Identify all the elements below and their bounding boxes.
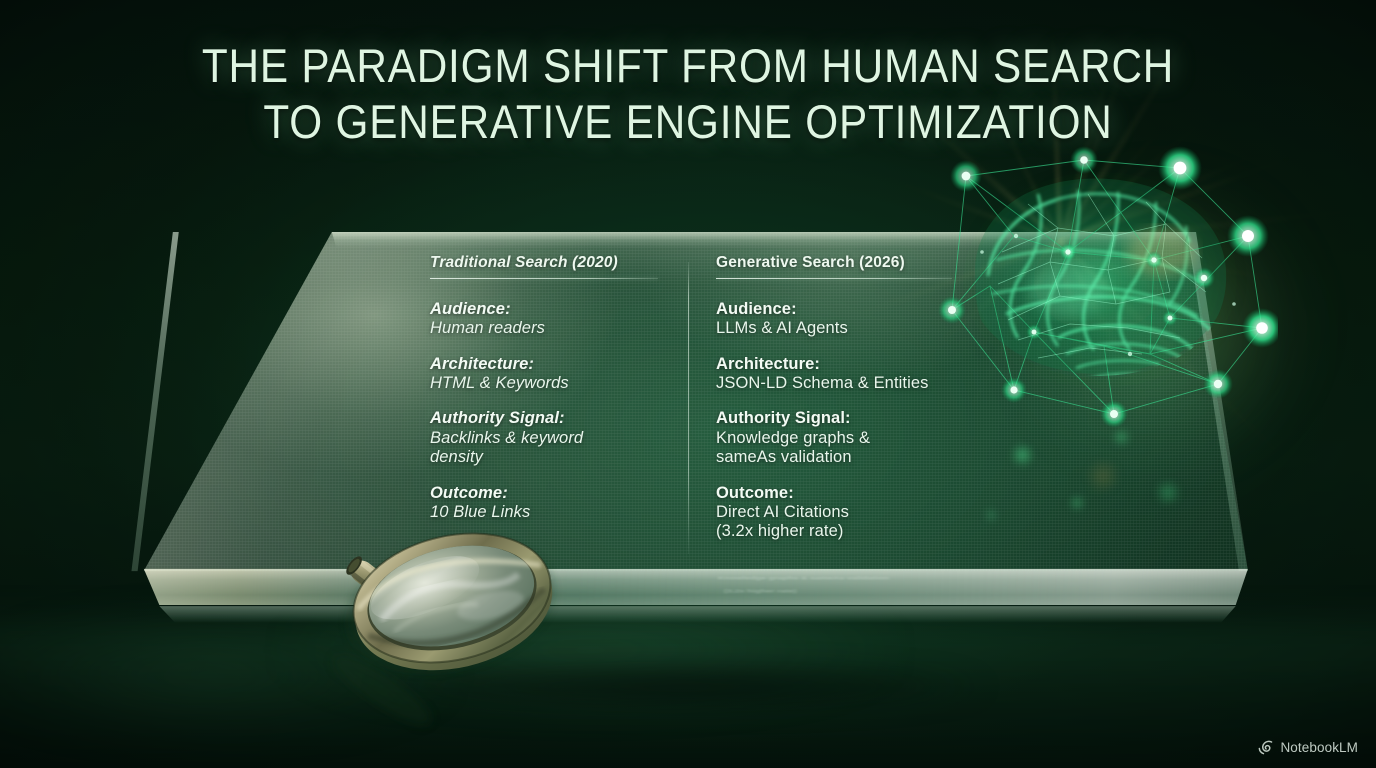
column-rule-generative bbox=[716, 278, 952, 279]
entry-label: Authority Signal: bbox=[716, 409, 996, 428]
entry-outcome-traditional: Outcome: 10 Blue Links bbox=[430, 484, 680, 523]
entry-audience-generative: Audience: LLMs & AI Agents bbox=[716, 300, 996, 339]
entry-authority-traditional: Authority Signal: Backlinks & keyword de… bbox=[430, 409, 680, 467]
entry-value: Direct AI Citations (3.2x higher rate) bbox=[716, 503, 996, 542]
entry-label: Architecture: bbox=[716, 355, 996, 374]
page-title: THE PARADIGM SHIFT FROM HUMAN SEARCH TO … bbox=[69, 38, 1307, 151]
entry-value: LLMs & AI Agents bbox=[716, 319, 996, 338]
slab-top-surface bbox=[128, 232, 1248, 608]
notebooklm-watermark: NotebookLM bbox=[1257, 739, 1358, 756]
entry-audience-traditional: Audience: Human readers bbox=[430, 300, 680, 339]
entry-value: 10 Blue Links bbox=[430, 503, 680, 522]
entry-value: Backlinks & keyword density bbox=[430, 429, 680, 468]
fog-left bbox=[0, 580, 580, 768]
watermark-label: NotebookLM bbox=[1280, 740, 1358, 755]
entry-label: Outcome: bbox=[430, 484, 680, 503]
entry-value: Human readers bbox=[430, 319, 680, 338]
slab-bottom-lip bbox=[128, 606, 1248, 623]
entry-label: Authority Signal: bbox=[430, 409, 680, 428]
ground-plane bbox=[0, 612, 1376, 768]
notebooklm-spiral-icon bbox=[1257, 739, 1274, 756]
entry-label: Audience: bbox=[430, 300, 680, 319]
entry-value: Knowledge graphs & sameAs validation bbox=[716, 429, 996, 468]
slab-cast-shadow bbox=[300, 660, 1060, 714]
entry-label: Outcome: bbox=[716, 484, 996, 503]
column-rule-traditional bbox=[430, 278, 658, 279]
column-heading-generative: Generative Search (2026) bbox=[716, 254, 996, 272]
entry-value: HTML & Keywords bbox=[430, 374, 680, 393]
column-generative: Generative Search (2026) Audience: LLMs … bbox=[716, 254, 996, 542]
entry-value: JSON-LD Schema & Entities bbox=[716, 374, 996, 393]
slab-front-edge bbox=[128, 569, 1248, 620]
entry-architecture-traditional: Architecture: HTML & Keywords bbox=[430, 355, 680, 394]
column-heading-traditional: Traditional Search (2020) bbox=[430, 254, 680, 272]
infographic-canvas: THE PARADIGM SHIFT FROM HUMAN SEARCH TO … bbox=[0, 0, 1376, 768]
entry-label: Audience: bbox=[716, 300, 996, 319]
glass-slab: Backlinks & keyword densityOutcome: 10 B… bbox=[128, 232, 1248, 608]
entry-authority-generative: Authority Signal: Knowledge graphs & sam… bbox=[716, 409, 996, 467]
entry-outcome-generative: Outcome: Direct AI Citations (3.2x highe… bbox=[716, 484, 996, 542]
entry-label: Architecture: bbox=[430, 355, 680, 374]
entry-architecture-generative: Architecture: JSON-LD Schema & Entities bbox=[716, 355, 996, 394]
column-traditional: Traditional Search (2020) Audience: Huma… bbox=[430, 254, 680, 522]
